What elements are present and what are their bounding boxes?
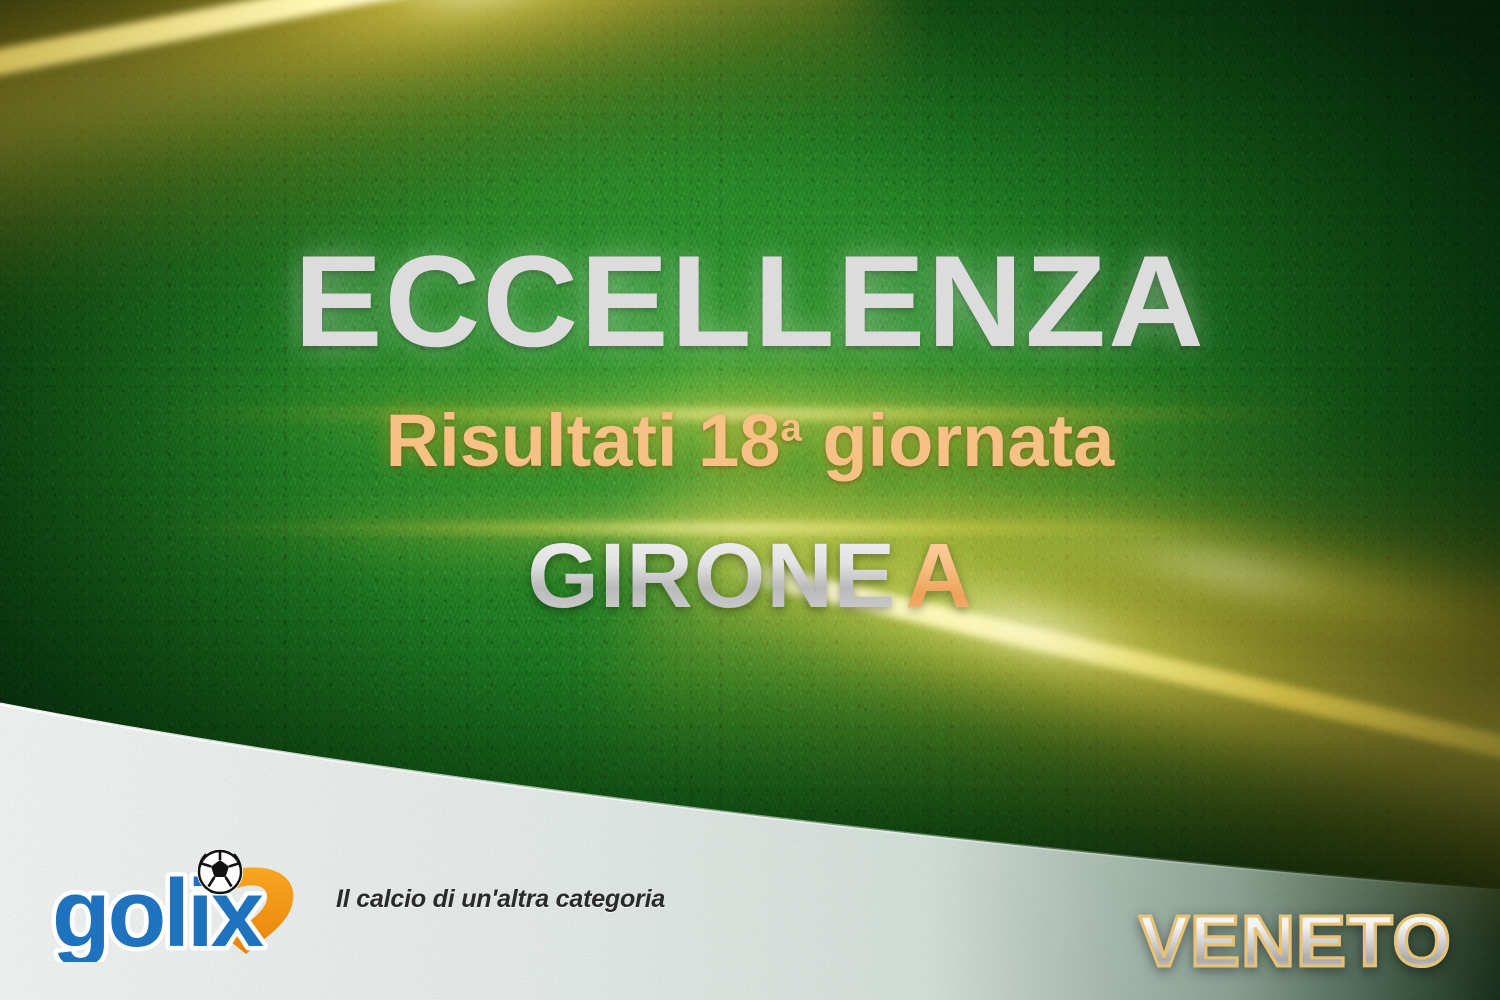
subtitle-suffix: giornata bbox=[822, 399, 1114, 482]
golix-logo[interactable]: golix golix bbox=[50, 842, 318, 962]
brand-lockup[interactable]: golix golix Il calcio di un'altra catego… bbox=[50, 842, 665, 962]
group-word: GIRONE bbox=[527, 525, 896, 627]
region-text: VENETO bbox=[1139, 902, 1452, 982]
matchday-number: 18 bbox=[698, 399, 780, 482]
brand-tagline: Il calcio di un'altra categoria bbox=[336, 885, 665, 914]
league-title: ECCELLENZA bbox=[0, 236, 1500, 366]
group-line: GIRONEA bbox=[0, 530, 1500, 622]
region-label: VENETO bbox=[1139, 906, 1452, 978]
headline-block: ECCELLENZA Risultati 18a giornata GIRONE… bbox=[0, 236, 1500, 622]
matchday-ordinal-suffix: a bbox=[780, 406, 801, 449]
subtitle-prefix: Risultati bbox=[386, 399, 678, 482]
eccellenza-results-graphic: ECCELLENZA Risultati 18a giornata GIRONE… bbox=[0, 0, 1500, 1000]
group-letter: A bbox=[905, 525, 972, 627]
soccer-ball-icon bbox=[197, 849, 243, 895]
matchday-subtitle: Risultati 18a giornata bbox=[0, 404, 1500, 478]
